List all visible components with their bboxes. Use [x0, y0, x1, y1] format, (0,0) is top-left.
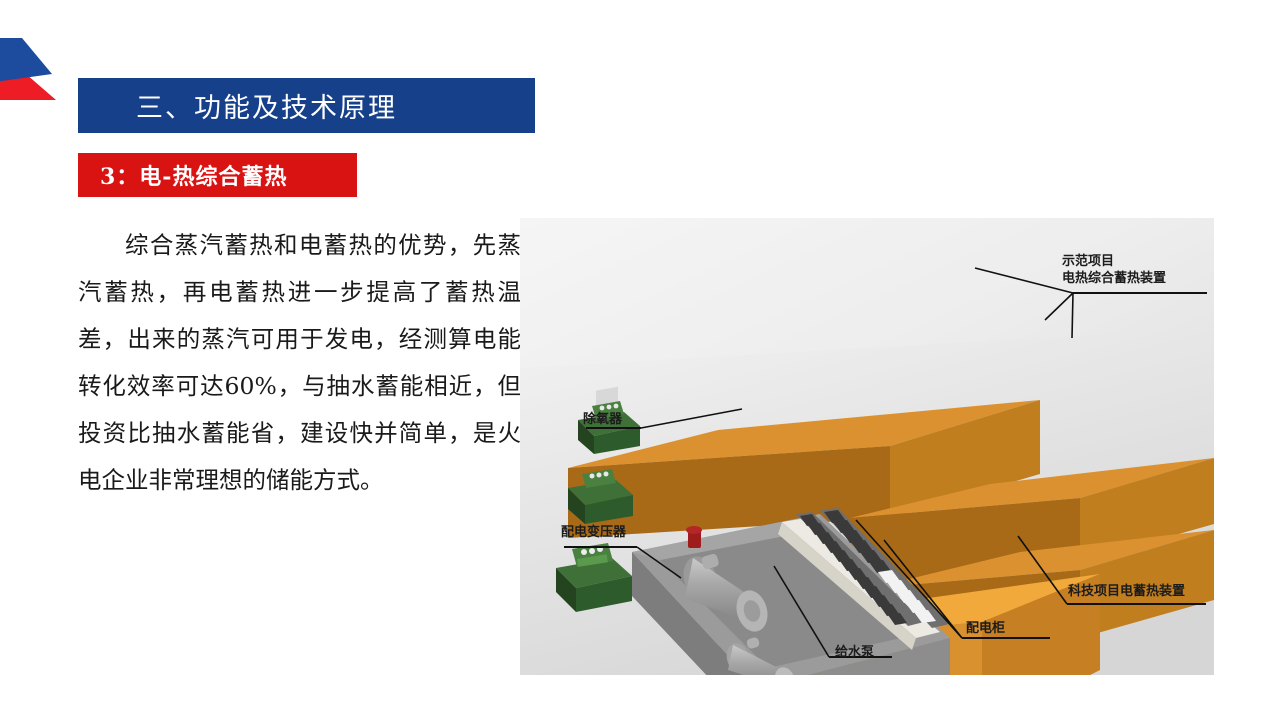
callout-label-demo-project: 示范项目 电热综合蓄热装置 — [1062, 253, 1166, 287]
callout-label-switchgear: 配电柜 — [966, 620, 1005, 637]
callout-demo-line2: 电热综合蓄热装置 — [1062, 270, 1166, 287]
callout-demo-line1: 示范项目 — [1062, 253, 1166, 270]
callout-label-feed-pump: 给水泵 — [835, 644, 874, 661]
corner-logo — [0, 28, 58, 104]
slide-canvas: 三、功能及技术原理 3：电-热综合蓄热 综合蒸汽蓄热和电蓄热的优势，先蒸汽蓄热，… — [0, 0, 1280, 720]
section-title-bar: 三、功能及技术原理 — [78, 78, 535, 133]
page-title: 三、功能及技术原理 — [78, 86, 397, 125]
callout-label-tech-project: 科技项目电蓄热装置 — [1068, 583, 1185, 600]
subsection-label: 3：电-热综合蓄热 — [78, 159, 287, 191]
callout-label-transformer: 配电变压器 — [561, 524, 626, 541]
body-paragraph: 综合蒸汽蓄热和电蓄热的优势，先蒸汽蓄热，再电蓄热进一步提高了蓄热温差，出来的蒸汽… — [78, 222, 521, 504]
callout-label-deaerator: 除氧器 — [583, 411, 622, 428]
logo-blue-arrow — [0, 38, 52, 74]
subsection-title-bar: 3：电-热综合蓄热 — [78, 153, 357, 197]
